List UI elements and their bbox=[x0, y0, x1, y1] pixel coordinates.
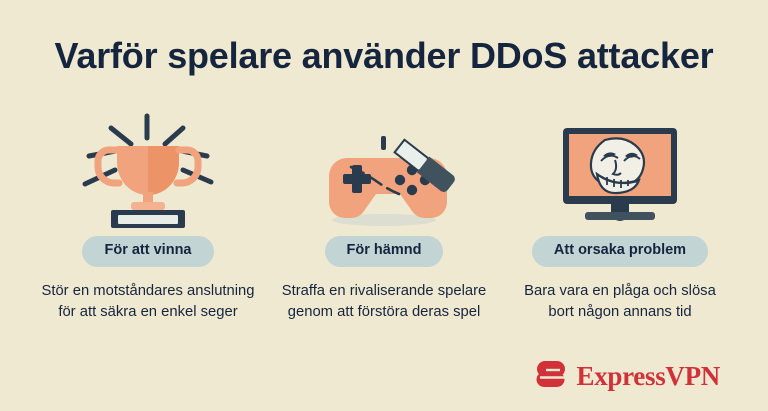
reason-column-revenge: För hämnd Straffa en rivaliserande spela… bbox=[266, 108, 502, 323]
caption-trouble: Bara vara en plåga och slösa bort någon … bbox=[513, 281, 728, 323]
reason-column-trouble: Att orsaka problem Bara vara en plåga oc… bbox=[502, 108, 738, 323]
pill-label-win: För att vinna bbox=[82, 236, 213, 267]
expressvpn-e-mark-icon bbox=[527, 359, 567, 393]
infographic-poster: Varför spelare använder DDoS attacker bbox=[0, 0, 768, 411]
gamepad-icon-container bbox=[309, 108, 459, 230]
troll-face-monitor-icon bbox=[545, 112, 695, 230]
monitor-icon-container bbox=[545, 108, 695, 230]
caption-revenge: Straffa en rivaliserande spelare genom a… bbox=[277, 281, 492, 323]
page-title: Varför spelare använder DDoS attacker bbox=[0, 36, 768, 76]
expressvpn-wordmark: ExpressVPN bbox=[576, 363, 720, 390]
trophy-icon-container bbox=[73, 108, 223, 230]
stabbed-gamepad-icon bbox=[309, 112, 459, 230]
reasons-columns: För att vinna Stör en motståndares anslu… bbox=[0, 108, 768, 323]
pill-label-revenge: För hämnd bbox=[325, 236, 444, 267]
expressvpn-logo: ExpressVPN bbox=[527, 359, 720, 393]
caption-win: Stör en motståndares anslutning för att … bbox=[41, 281, 256, 323]
pill-label-trouble: Att orsaka problem bbox=[532, 236, 708, 267]
reason-column-win: För att vinna Stör en motståndares anslu… bbox=[30, 108, 266, 323]
trophy-icon bbox=[73, 112, 223, 230]
